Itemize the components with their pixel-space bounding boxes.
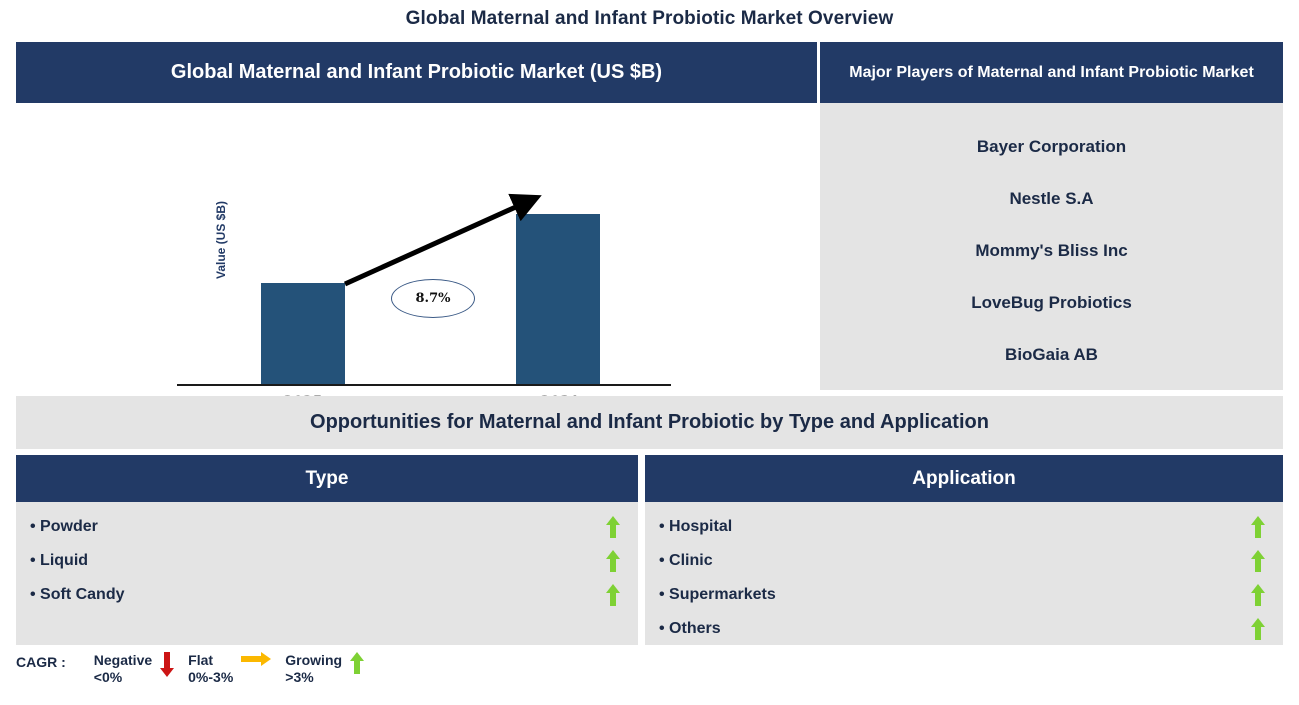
trend-arrow-up-icon [606,584,620,606]
major-players-panel: Major Players of Maternal and Infant Pro… [820,42,1283,390]
list-item: Mommy's Bliss Inc [820,225,1283,277]
list-item: BioGaia AB [820,329,1283,381]
market-chart-panel: Global Maternal and Infant Probiotic Mar… [16,42,817,390]
market-chart-body: Value (US $B) 2025 2031 8.7% Source : Lu… [16,103,817,390]
type-column-header: Type [16,455,638,502]
cagr-legend-flat-text: Flat 0%-3% [188,652,233,686]
table-row: • Liquid [16,544,638,578]
application-item-label: • Others [659,620,721,638]
major-players-panel-header: Major Players of Maternal and Infant Pro… [820,42,1283,103]
cagr-legend-growing-text: Growing >3% [285,652,342,686]
opportunities-application-table: Application • Hospital • Clinic • Superm… [645,455,1283,645]
cagr-legend-entry-negative: Negative <0% [94,652,182,686]
cagr-legend-entry-flat: Flat 0%-3% [188,652,279,686]
trend-arrow-up-icon [1251,516,1265,538]
trend-arrow-up-icon [606,550,620,572]
list-item: Nestle S.A [820,173,1283,225]
opportunities-band-title: Opportunities for Maternal and Infant Pr… [16,396,1283,449]
cagr-legend: CAGR : Negative <0% Flat 0%-3% Growing >… [16,652,378,696]
major-players-list: Bayer Corporation Nestle S.A Mommy's Bli… [820,103,1283,390]
trend-arrow-up-icon [1251,550,1265,572]
cagr-legend-growing-range: >3% [285,669,342,686]
chart-bar-2025 [261,283,345,384]
cagr-legend-growing-label: Growing [285,652,342,669]
application-item-label: • Clinic [659,552,713,570]
type-item-label: • Liquid [30,552,88,570]
cagr-legend-flat-range: 0%-3% [188,669,233,686]
list-item: LoveBug Probiotics [820,277,1283,329]
cagr-legend-negative-text: Negative <0% [94,652,152,686]
application-column-header: Application [645,455,1283,502]
market-overview-infographic: Global Maternal and Infant Probiotic Mar… [0,0,1299,705]
arrow-right-yellow-icon [241,652,271,667]
table-row: • Supermarkets [645,578,1283,612]
page-title: Global Maternal and Infant Probiotic Mar… [0,8,1299,30]
application-item-label: • Supermarkets [659,586,776,604]
trend-arrow-up-icon [1251,618,1265,640]
chart-y-axis-label: Value (US $B) [214,180,228,300]
type-item-label: • Powder [30,518,98,536]
table-row: • Hospital [645,510,1283,544]
trend-arrow-up-icon [606,516,620,538]
table-row: • Powder [16,510,638,544]
trend-arrow-up-icon [1251,584,1265,606]
table-row: • Soft Candy [16,578,638,612]
type-item-label: • Soft Candy [30,586,125,604]
cagr-legend-title: CAGR : [16,652,66,670]
cagr-legend-negative-label: Negative [94,652,152,669]
arrow-down-red-icon [160,652,174,677]
chart-bar-2031 [516,214,600,384]
cagr-legend-negative-range: <0% [94,669,152,686]
opportunities-type-table: Type • Powder • Liquid • Soft Candy [16,455,638,645]
cagr-legend-entry-growing: Growing >3% [285,652,372,686]
table-row: • Others [645,612,1283,646]
chart-x-axis-line [177,384,671,386]
list-item: Bayer Corporation [820,121,1283,173]
arrow-up-green-icon [350,652,364,675]
type-column-body: • Powder • Liquid • Soft Candy [16,502,638,645]
table-row: • Clinic [645,544,1283,578]
cagr-value-callout: 8.7% [391,279,475,318]
market-chart-panel-header: Global Maternal and Infant Probiotic Mar… [16,42,817,103]
cagr-legend-flat-label: Flat [188,652,233,669]
application-item-label: • Hospital [659,518,732,536]
application-column-body: • Hospital • Clinic • Supermarkets • Oth… [645,502,1283,645]
